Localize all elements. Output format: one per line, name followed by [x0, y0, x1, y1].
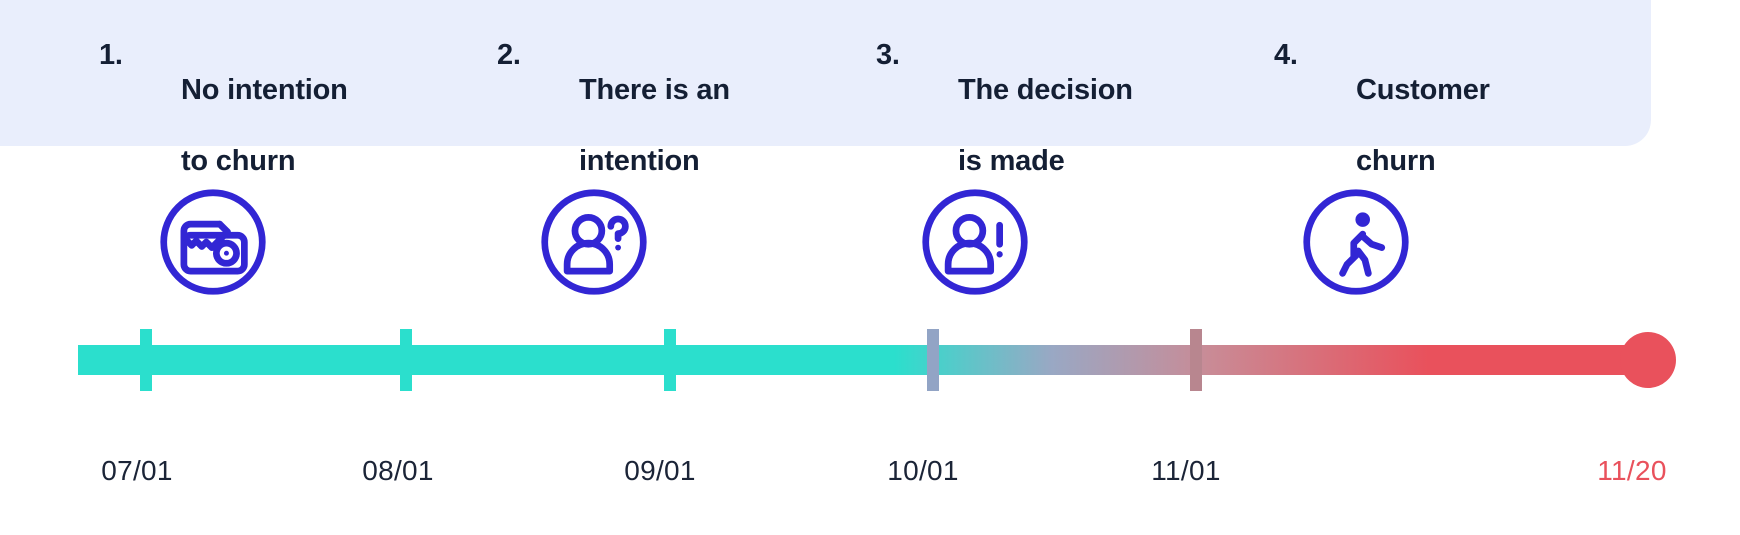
date-label: 11/01	[1151, 455, 1221, 487]
date-label: 10/01	[887, 455, 959, 487]
timeline-date-labels: 07/01 08/01 09/01 10/01 11/01 11/20	[0, 0, 1740, 535]
date-label: 08/01	[362, 455, 434, 487]
date-label: 07/01	[101, 455, 173, 487]
date-label-end: 11/20	[1597, 455, 1667, 487]
date-label: 09/01	[624, 455, 696, 487]
